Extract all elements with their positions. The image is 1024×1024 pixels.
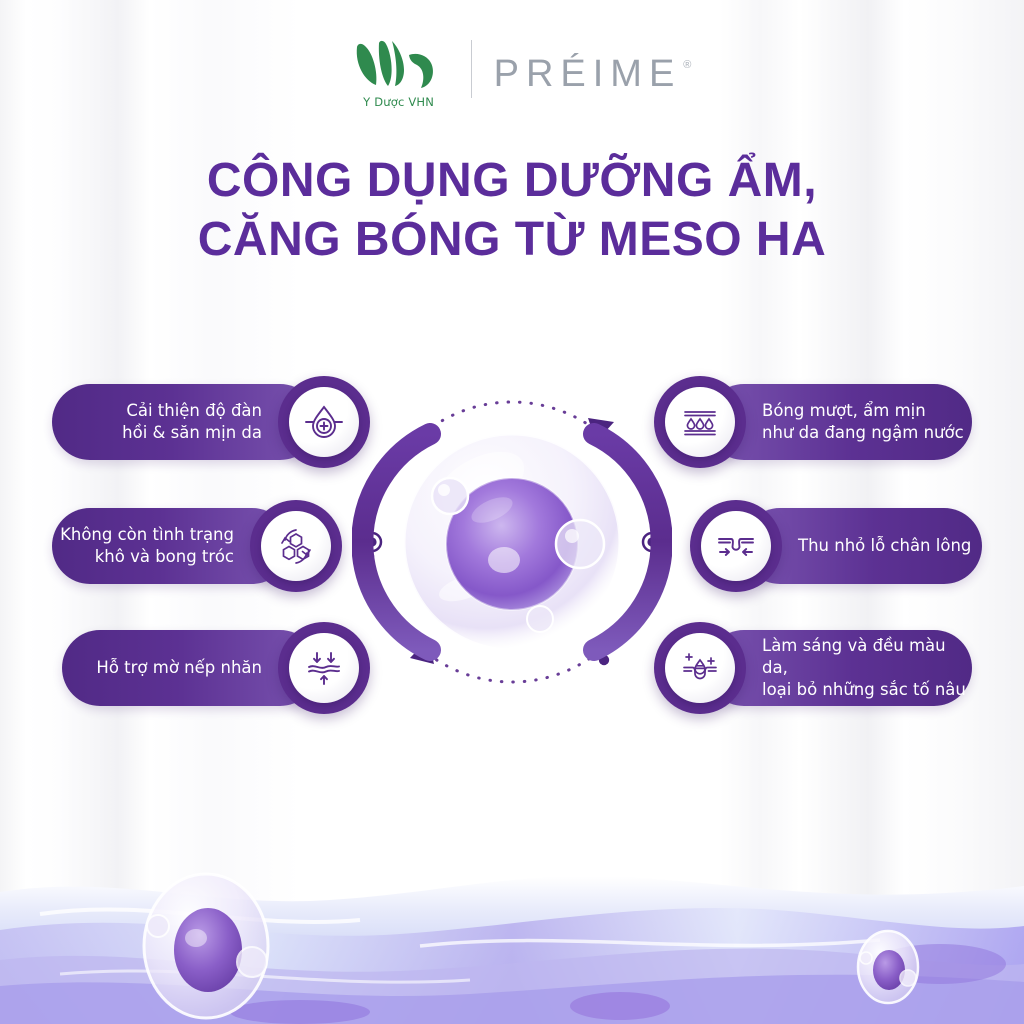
hexagon-molecule-refresh-icon (261, 511, 331, 581)
feature-pill-left-2[interactable]: Không còn tình trạng khô và bong tróc (52, 500, 342, 592)
feature-label: Hỗ trợ mờ nếp nhăn (96, 657, 262, 679)
vhn-logo: Y Dược VHN (333, 39, 465, 109)
feature-label: Cải thiện độ đàn hồi & săn mịn da (122, 400, 262, 445)
hydration-droplets-icon (665, 387, 735, 457)
feature-pill-right-3[interactable]: Làm sáng và đều màu da, loại bỏ những sắ… (654, 622, 972, 714)
feature-label: Không còn tình trạng khô và bong tróc (60, 524, 234, 569)
feature-pill-right-2[interactable]: Thu nhỏ lỗ chân lông (690, 500, 982, 592)
vhn-logo-text: Y Dược VHN (363, 95, 434, 109)
pore-shrink-icon (701, 511, 771, 581)
floating-sphere-right (858, 931, 918, 1003)
logo-divider (471, 40, 472, 98)
feature-icon-disc (278, 376, 370, 468)
poster-canvas: Y Dược VHN PRÉIME ® CÔNG DỤNG DƯỠNG ẨM, … (0, 0, 1024, 1024)
registered-trademark-icon: ® (683, 59, 691, 71)
floating-sphere-left (144, 874, 268, 1018)
preime-logo: PRÉIME ® (494, 55, 692, 93)
brightening-sparkle-drop-icon (665, 633, 735, 703)
feature-icon-disc (654, 376, 746, 468)
page-title: CÔNG DỤNG DƯỠNG ẨM, CĂNG BÓNG TỪ MESO HA (0, 152, 1024, 269)
feature-icon-disc (250, 500, 342, 592)
water-surface-with-spheres (0, 834, 1024, 1024)
feature-label: Thu nhỏ lỗ chân lông (798, 535, 971, 557)
feature-pill-right-1[interactable]: Bóng mượt, ẩm mịn như da đang ngậm nước (654, 376, 972, 468)
title-line-1: CÔNG DỤNG DƯỠNG ẨM, (0, 152, 1024, 211)
meso-ha-sphere-graphic (352, 392, 672, 692)
title-line-2: CĂNG BÓNG TỪ MESO HA (0, 211, 1024, 270)
feature-label: Bóng mượt, ẩm mịn như da đang ngậm nước (762, 400, 964, 445)
feature-icon-disc (654, 622, 746, 714)
feature-icon-disc (278, 622, 370, 714)
wrinkle-smoothing-arrows-icon (289, 633, 359, 703)
feature-pill-left-1[interactable]: Cải thiện độ đàn hồi & săn mịn da (52, 376, 370, 468)
preime-logo-text: PRÉIME (494, 55, 682, 93)
water-drop-plus-icon (289, 387, 359, 457)
vhn-leaf-logo-icon (351, 39, 447, 91)
feature-icon-disc (690, 500, 782, 592)
feature-pill-left-3[interactable]: Hỗ trợ mờ nếp nhăn (62, 622, 370, 714)
brand-header: Y Dược VHN PRÉIME ® (0, 28, 1024, 120)
feature-label: Làm sáng và đều màu da, loại bỏ những sắ… (762, 635, 972, 702)
